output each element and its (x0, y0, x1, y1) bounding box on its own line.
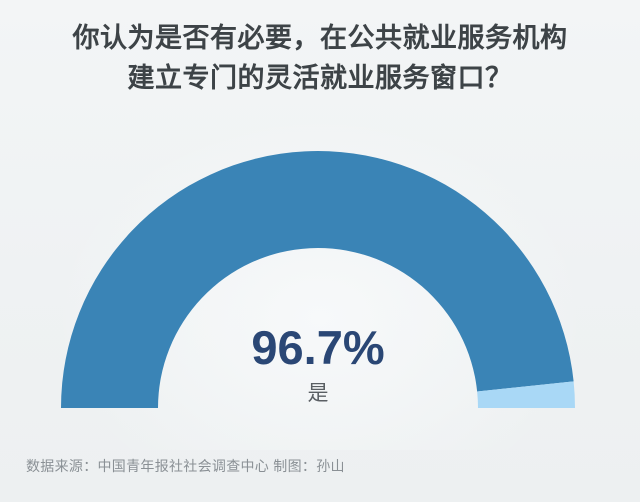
gauge-center-sublabel: 是 (118, 380, 518, 408)
gauge-chart (0, 0, 640, 502)
gauge-svg (0, 0, 640, 502)
gauge-center-value: 96.7% (118, 322, 518, 374)
infographic-page: 你认为是否有必要，在公共就业服务机构 建立专门的灵活就业服务窗口？ 96.7% … (0, 0, 640, 502)
source-note: 数据来源：中国青年报社社会调查中心 制图：孙山 (26, 456, 345, 476)
